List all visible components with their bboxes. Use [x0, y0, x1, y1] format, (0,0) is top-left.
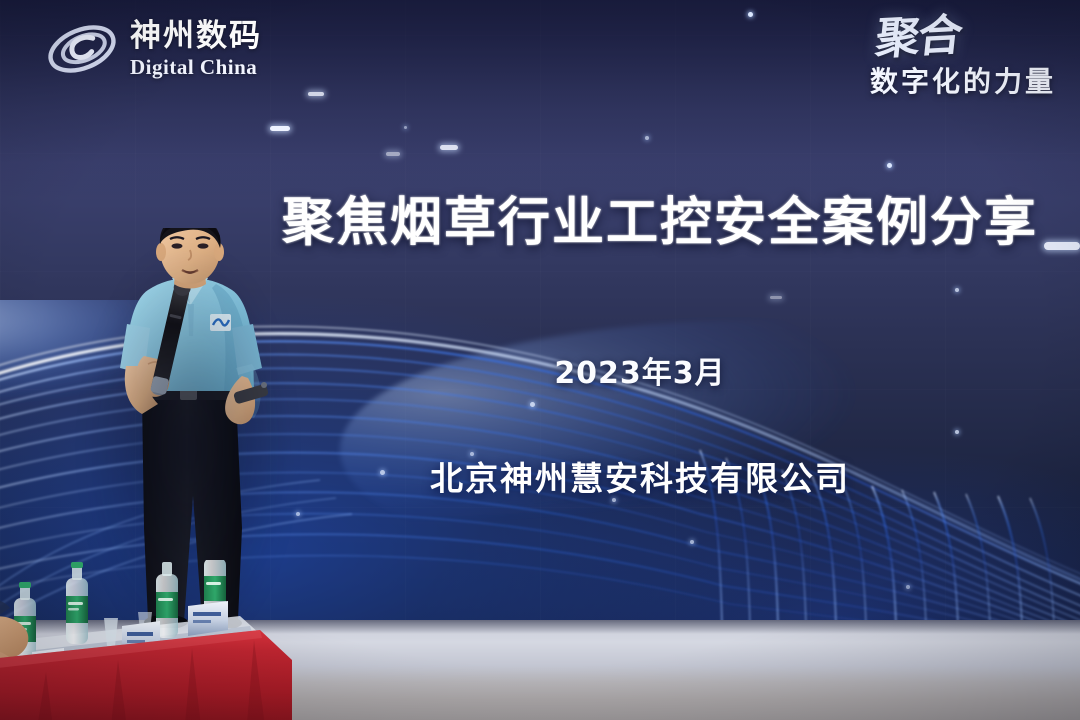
light-particle: [748, 12, 753, 17]
light-particle: [404, 126, 407, 129]
light-particle: [955, 430, 959, 434]
event-logo: 聚合 数字化的力量: [870, 18, 1056, 100]
digital-china-cn-text: 神州数码: [130, 21, 262, 52]
light-particle: [530, 402, 535, 407]
conference-stage-photo: 神州数码 Digital China 聚合 数字化的力量 聚焦烟草行业工控安全案…: [0, 0, 1080, 720]
swirl-galaxy-icon: [44, 18, 120, 80]
light-particle: [955, 288, 959, 292]
light-particle: [770, 296, 782, 299]
light-particle: [887, 163, 892, 168]
water-bottle: [66, 562, 88, 644]
name-card: [188, 601, 228, 636]
light-particle: [440, 145, 458, 150]
light-particle: [690, 540, 694, 544]
light-particle: [386, 152, 400, 156]
event-logo-calligraphy: 聚合: [868, 16, 963, 61]
event-logo-subtitle: 数字化的力量: [870, 60, 1056, 100]
digital-china-en-text: Digital China: [130, 57, 262, 78]
digital-china-logo: 神州数码 Digital China: [44, 18, 262, 80]
foreground-head-table: [0, 560, 268, 720]
light-particle: [270, 126, 290, 131]
light-particle: [308, 92, 324, 96]
light-particle: [906, 585, 910, 589]
light-particle: [645, 136, 649, 140]
